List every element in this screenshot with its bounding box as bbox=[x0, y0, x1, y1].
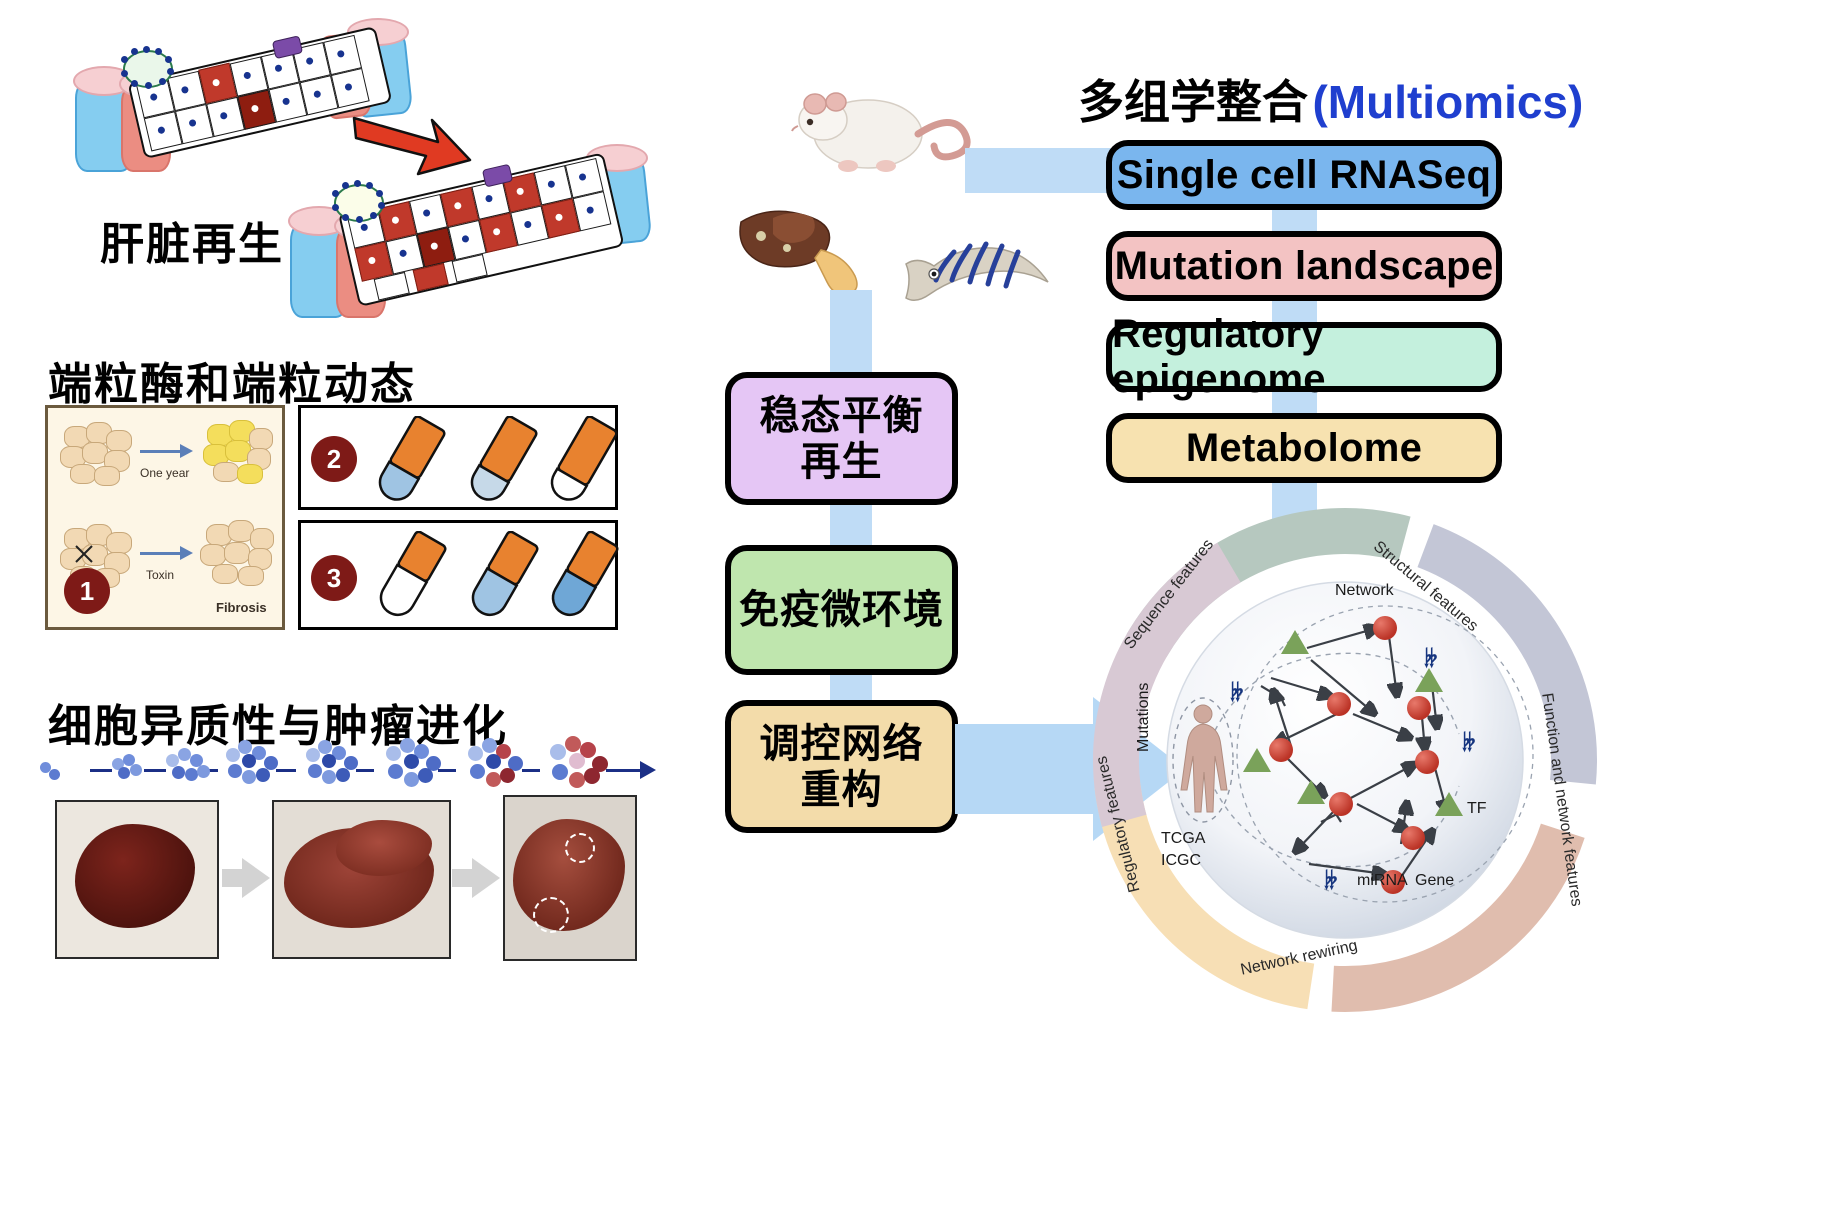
omics-box-label: Mutation landscape bbox=[1115, 244, 1494, 289]
telomere-tube-1-icon bbox=[367, 416, 453, 509]
label-mirna: miRNA bbox=[1357, 872, 1408, 890]
photo-arrow-1-icon bbox=[222, 858, 270, 898]
page-title-zh: 多组学整合 bbox=[1078, 76, 1308, 128]
label-network: Network bbox=[1335, 582, 1394, 600]
label-fibrosis: Fibrosis bbox=[216, 600, 267, 615]
network-node bbox=[1329, 792, 1353, 816]
telomere-panel-cell-senescence: One year Toxin 1 bbox=[45, 405, 285, 630]
photo-arrow-2-icon bbox=[452, 858, 500, 898]
omics-box-single-cell-rnaseq[interactable]: Single cell RNASeq bbox=[1106, 140, 1502, 210]
liver-photo-tumor bbox=[503, 795, 637, 961]
omics-box-label: Regulatory epigenome bbox=[1112, 312, 1496, 402]
telomere-tube-3-icon bbox=[539, 416, 625, 509]
tf-node bbox=[1415, 668, 1443, 692]
tf-node bbox=[1243, 748, 1271, 772]
mirna-glyph-icon: 𝄭𝄭 bbox=[1425, 646, 1435, 668]
mouse-icon bbox=[790, 62, 980, 207]
zebrafish-icon bbox=[898, 200, 1058, 315]
label-gene: Gene bbox=[1415, 872, 1454, 890]
telomere-tube-5-icon bbox=[459, 531, 545, 628]
network-node bbox=[1415, 750, 1439, 774]
section-heading-telomere: 端粒酶和端粒动态 bbox=[48, 348, 416, 412]
label-tf: TF bbox=[1467, 800, 1487, 818]
page-title-en: (Multiomics) bbox=[1312, 76, 1583, 128]
label-toxin: Toxin bbox=[146, 568, 174, 582]
flowbox-line1: 调控网络 bbox=[760, 721, 924, 767]
flowbox-homeostasis-regeneration[interactable]: 稳态平衡 再生 bbox=[725, 372, 958, 505]
flowbox-line1: 稳态平衡 bbox=[760, 393, 924, 439]
omics-box-label: Metabolome bbox=[1186, 426, 1422, 471]
flowbox-line1: 免疫微环境 bbox=[739, 587, 944, 633]
label-mutations: Mutations bbox=[1135, 683, 1153, 752]
flowbox-line2: 再生 bbox=[801, 439, 883, 485]
telomere-panel-3: 3 bbox=[298, 520, 618, 630]
badge-2: 2 bbox=[311, 436, 357, 482]
liver-regeneration-illustration-after bbox=[290, 150, 670, 330]
mirna-glyph-icon: 𝄭𝄭 bbox=[1325, 868, 1335, 890]
label-tcga: TCGA bbox=[1161, 830, 1205, 848]
crossed-out-icon bbox=[74, 544, 94, 564]
network-node bbox=[1407, 696, 1431, 720]
network-node bbox=[1401, 826, 1425, 850]
label-one-year: One year bbox=[140, 466, 189, 480]
tf-node bbox=[1435, 792, 1463, 816]
liver-photo-enlarged bbox=[272, 800, 451, 959]
mirna-glyph-icon: 𝄭𝄭 bbox=[1231, 680, 1241, 702]
omics-box-metabolome[interactable]: Metabolome bbox=[1106, 413, 1502, 483]
omics-box-regulatory-epigenome[interactable]: Regulatory epigenome bbox=[1106, 322, 1502, 392]
badge-3: 3 bbox=[311, 555, 357, 601]
integration-arrow-stem bbox=[955, 724, 1095, 814]
multiomics-wheel: 𝄭𝄭 𝄭𝄭 𝄭𝄭 𝄭𝄭 Network Mutations TCGA ICGC … bbox=[1085, 500, 1605, 1020]
flowbox-immune-microenvironment[interactable]: 免疫微环境 bbox=[725, 545, 958, 675]
liver-photo-normal bbox=[55, 800, 219, 959]
mirna-glyph-icon: 𝄭𝄭 bbox=[1463, 730, 1473, 752]
telomere-tube-2-icon bbox=[459, 416, 545, 509]
clonal-evolution-arrow bbox=[40, 740, 665, 800]
tumor-marker-2 bbox=[533, 897, 569, 933]
omics-box-mutation-landscape[interactable]: Mutation landscape bbox=[1106, 231, 1502, 301]
badge-1: 1 bbox=[64, 568, 110, 614]
tumor-marker-1 bbox=[565, 833, 595, 863]
network-node bbox=[1373, 616, 1397, 640]
section-heading-liver-regeneration: 肝脏再生 bbox=[100, 208, 284, 272]
omics-box-label: Single cell RNASeq bbox=[1117, 153, 1491, 198]
flowbox-regulatory-network-rewiring[interactable]: 调控网络 重构 bbox=[725, 700, 958, 833]
page-title: 多组学整合 (Multiomics) bbox=[1078, 66, 1583, 132]
telomere-panel-2: 2 bbox=[298, 405, 618, 510]
telomere-tube-6-icon bbox=[539, 531, 625, 628]
flowbox-line2: 重构 bbox=[801, 767, 883, 813]
label-icgc: ICGC bbox=[1161, 852, 1201, 870]
network-node bbox=[1269, 738, 1293, 762]
tf-node bbox=[1297, 780, 1325, 804]
telomere-tube-4-icon bbox=[367, 531, 453, 628]
tf-node bbox=[1281, 630, 1309, 654]
network-node bbox=[1327, 692, 1351, 716]
